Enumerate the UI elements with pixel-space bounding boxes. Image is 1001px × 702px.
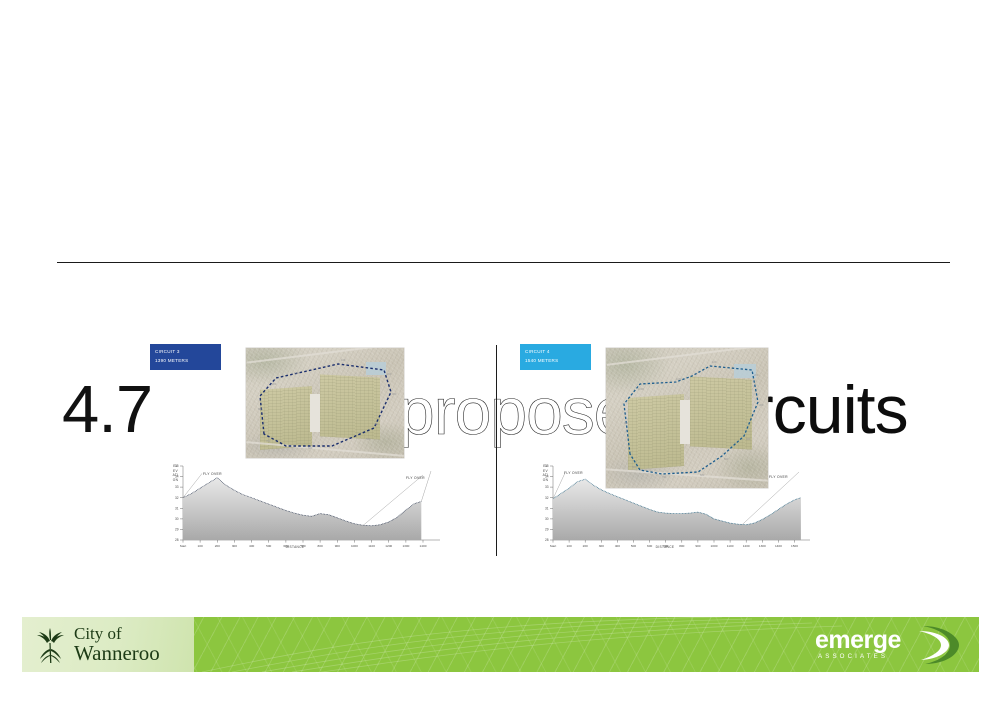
city-of-wanneroo-logo: City of Wanneroo [22,617,194,672]
circuit-3-x-axis-title: DISTANCE [150,545,440,549]
council-line-1: City of [74,625,160,642]
svg-text:700: 700 [662,475,667,479]
council-line-2: Wanneroo [74,643,160,664]
slide-footer: City of Wanneroo emerge ASSOCIATES [22,617,979,672]
circuit-4-y-axis-title: ELEVATION [542,464,549,483]
svg-text:29: 29 [175,528,179,532]
svg-text:600: 600 [700,473,705,477]
svg-text:31: 31 [175,506,179,510]
svg-text:600: 600 [308,446,313,450]
svg-text:29: 29 [545,528,549,532]
circuit-panel-3: CIRCUIT 3 1390 METERS 100 200 300 400 50… [150,340,480,565]
svg-text:30: 30 [545,517,549,521]
svg-text:300: 300 [759,403,764,407]
emerge-wordmark: emerge [815,626,901,655]
circuit-4-route-overlay: 100 200 300 400 500 600 700 800 900 1000… [606,348,768,488]
circuit-3-aerial-photo: 100 200 300 400 500 600 700 800 900 1000 [246,348,404,458]
city-of-wanneroo-wordmark: City of Wanneroo [74,625,160,665]
circuit-3-flyover-label-right: FLY OVER [406,476,425,480]
circuit-4-length: 1540 METERS [525,357,587,366]
svg-text:28: 28 [545,538,549,542]
circuit-4-x-axis-title: DISTANCE [520,545,810,549]
svg-text:33: 33 [175,485,179,489]
circuit-3-elevation-chart: ELEVATION DISTANCE FLY OVER FLY OVER [150,458,480,560]
circuit-3-y-axis-title: ELEVATION [172,464,179,483]
svg-text:1100: 1100 [676,377,682,381]
circuit-3-route-overlay: 100 200 300 400 500 600 700 800 900 1000 [246,348,404,458]
svg-text:31: 31 [545,506,549,510]
emerge-subtitle: ASSOCIATES [818,653,888,660]
svg-text:900: 900 [624,421,629,425]
svg-text:33: 33 [545,485,549,489]
svg-text:400: 400 [746,437,751,441]
circuit-3-badge: CIRCUIT 3 1390 METERS [150,344,221,370]
svg-text:200: 200 [754,373,759,377]
svg-text:500: 500 [724,457,729,461]
circuit-3-flyover-label-left: FLY OVER [203,472,222,476]
svg-text:400: 400 [374,422,379,426]
grasstree-icon [30,625,70,665]
emerge-associates-logo: emerge ASSOCIATES [815,623,965,667]
svg-text:32: 32 [545,496,549,500]
svg-text:800: 800 [632,465,637,469]
svg-text:500: 500 [366,437,371,441]
circuit-3-length: 1390 METERS [155,357,217,366]
svg-text:100: 100 [341,358,346,362]
panel-divider [496,345,497,556]
svg-text:300: 300 [392,392,397,396]
svg-text:28: 28 [175,538,179,542]
circuit-4-name: CIRCUIT 4 [525,348,587,357]
emerge-swoosh-icon [913,623,965,667]
circuit-4-badge: CIRCUIT 4 1540 METERS [520,344,591,370]
svg-text:900: 900 [272,382,277,386]
svg-text:30: 30 [175,517,179,521]
svg-text:100: 100 [712,360,717,364]
svg-text:32: 32 [175,496,179,500]
circuit-panel-4: CIRCUIT 4 1540 METERS 100 200 300 400 50… [520,340,850,565]
svg-text:200: 200 [387,372,392,376]
svg-text:1000: 1000 [294,371,300,375]
circuit-4-flyover-label-right: FLY OVER [769,475,788,479]
circuit-3-name: CIRCUIT 3 [155,348,217,357]
circuit-4-flyover-label-left: FLY OVER [564,471,583,475]
svg-text:700: 700 [266,439,271,443]
svg-text:1000: 1000 [638,387,644,391]
svg-text:800: 800 [258,407,263,411]
title-section-number: 4.7 [62,376,152,443]
circuit-4-aerial-photo: 100 200 300 400 500 600 700 800 900 1000… [606,348,768,488]
title-underline-rule [57,262,950,263]
